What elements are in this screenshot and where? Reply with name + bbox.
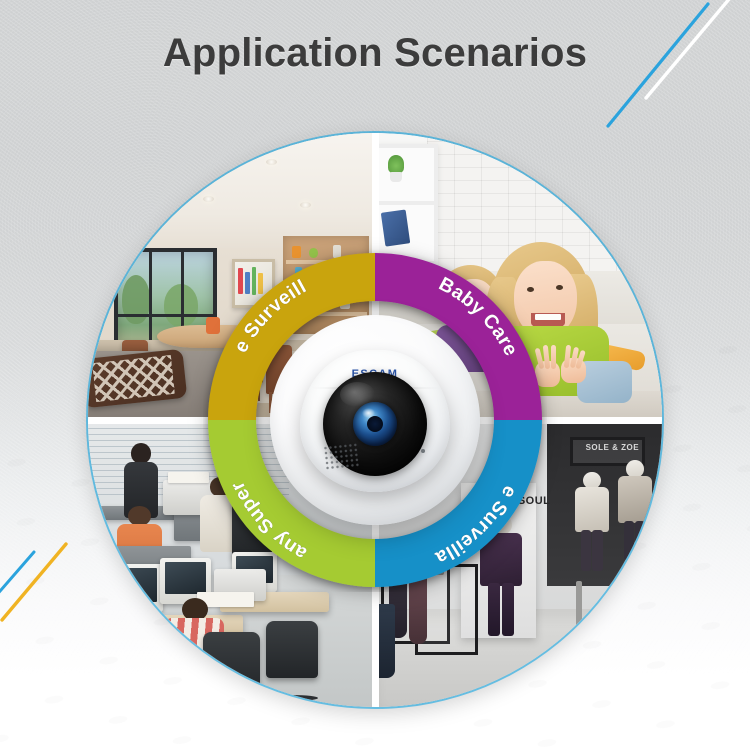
store-mannequin-right-b [616,460,653,558]
camera-lens [353,402,397,446]
page-title: Application Scenarios [0,31,750,76]
camera-microphone-hole [421,449,425,453]
escam-panoramic-camera: ESCAM [270,315,480,525]
camera-speaker-grille [323,442,360,471]
scenario-wheel: SOLE & ZOE GUTS & SOUL [88,133,662,707]
store-sign-secondary: SOLE & ZOE [586,443,639,452]
store-mannequin-right-a [573,472,610,570]
baby-room-shelf [375,144,438,265]
infographic-canvas: Application Scenarios [0,0,750,750]
camera-body: ESCAM [300,350,450,492]
